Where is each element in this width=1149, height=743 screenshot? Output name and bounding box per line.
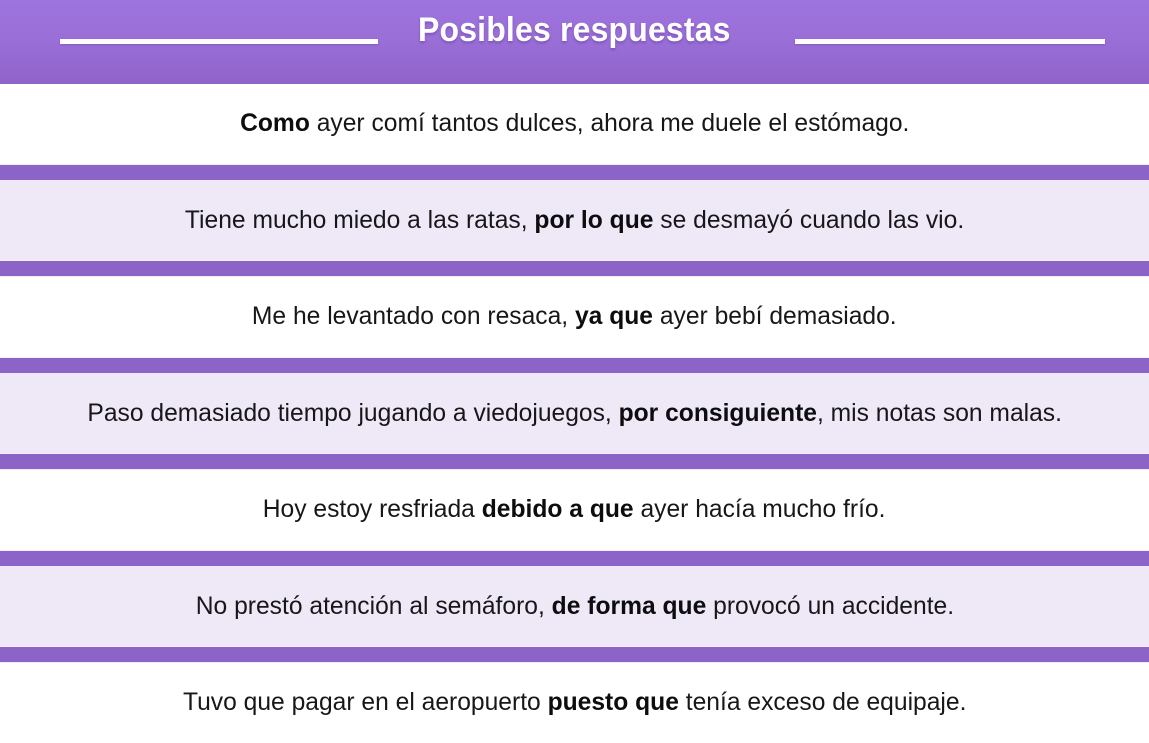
page-title: Posibles respuestas — [397, 13, 751, 47]
answer-pre: Tiene mucho miedo a las ratas, — [185, 206, 534, 234]
answer-text: Hoy estoy resfriada debido a que ayer ha… — [263, 495, 886, 525]
answer-connector: ya que — [575, 302, 653, 330]
answer-post: ayer bebí demasiado. — [653, 302, 897, 330]
answer-row: Paso demasiado tiempo jugando a viedojue… — [0, 374, 1149, 454]
answer-text: Tuvo que pagar en el aeropuerto puesto q… — [183, 688, 966, 718]
header-rule-left — [60, 39, 378, 44]
answer-connector: Como — [240, 109, 310, 137]
answer-pre: No prestó atención al semáforo, — [195, 592, 551, 620]
answer-row: Me he levantado con resaca, ya que ayer … — [0, 277, 1149, 357]
answer-text: Tiene mucho miedo a las ratas, por lo qu… — [185, 206, 964, 236]
answer-post: tenía exceso de equipaje. — [679, 688, 967, 716]
answer-connector: debido a que — [482, 495, 634, 523]
row-separator — [0, 550, 1149, 567]
answer-row: Tiene mucho miedo a las ratas, por lo qu… — [0, 181, 1149, 261]
row-separator — [0, 164, 1149, 181]
answer-text: Como ayer comí tantos dulces, ahora me d… — [240, 109, 909, 139]
header-rule-right — [795, 39, 1105, 44]
answer-text: Me he levantado con resaca, ya que ayer … — [252, 302, 897, 332]
answer-connector: por consiguiente — [618, 399, 816, 427]
answers-sheet: Posibles respuestas Como ayer comí tanto… — [0, 0, 1149, 577]
answer-post: ayer hacía mucho frío. — [634, 495, 886, 523]
answer-post: , mis notas son malas. — [817, 399, 1062, 427]
answer-pre: Paso demasiado tiempo jugando a viedojue… — [87, 399, 618, 427]
answer-post: provocó un accidente. — [706, 592, 954, 620]
row-separator — [0, 646, 1149, 663]
header-banner: Posibles respuestas — [0, 0, 1149, 84]
answer-post: se desmayó cuando las vio. — [653, 206, 964, 234]
answer-pre: Me he levantado con resaca, — [252, 302, 575, 330]
answers-list: Como ayer comí tantos dulces, ahora me d… — [0, 84, 1149, 743]
answer-connector: por lo que — [534, 206, 653, 234]
answer-post: ayer comí tantos dulces, ahora me duele … — [310, 109, 910, 137]
answer-connector: de forma que — [551, 592, 706, 620]
answer-connector: puesto que — [547, 688, 678, 716]
answer-pre: Hoy estoy resfriada — [263, 495, 482, 523]
row-separator — [0, 260, 1149, 277]
answer-row: Hoy estoy resfriada debido a que ayer ha… — [0, 470, 1149, 550]
answer-pre: Tuvo que pagar en el aeropuerto — [183, 688, 548, 716]
answer-text: Paso demasiado tiempo jugando a viedojue… — [87, 399, 1062, 429]
answer-row: Como ayer comí tantos dulces, ahora me d… — [0, 84, 1149, 164]
answer-text: No prestó atención al semáforo, de forma… — [195, 592, 953, 622]
answer-row: Tuvo que pagar en el aeropuerto puesto q… — [0, 663, 1149, 743]
answer-row: No prestó atención al semáforo, de forma… — [0, 567, 1149, 647]
row-separator — [0, 357, 1149, 374]
row-separator — [0, 453, 1149, 470]
